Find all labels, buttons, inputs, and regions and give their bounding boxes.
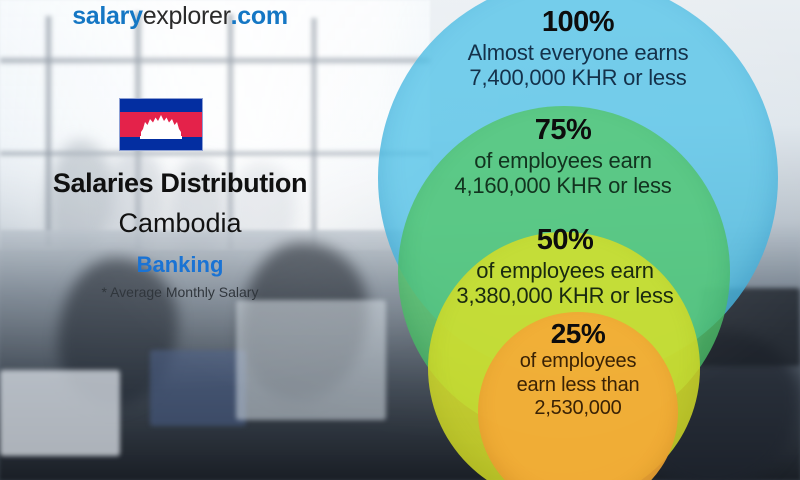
- percentile-desc-100: Almost everyone earns: [398, 40, 758, 66]
- salary-basis-note: * Average Monthly Salary: [0, 284, 360, 300]
- percentile-value-75: 75%: [398, 114, 728, 148]
- percentile-amount-25: 2,530,000: [478, 397, 678, 420]
- percentile-desc-75: of employees earn: [398, 148, 728, 174]
- percentile-desc-25-b: earn less than: [478, 374, 678, 397]
- page-title: Salaries Distribution: [0, 168, 360, 199]
- percentile-label-25: 25% of employees earn less than 2,530,00…: [478, 318, 678, 420]
- country-label: Cambodia: [0, 208, 360, 239]
- logo-part-explorer: explorer: [143, 2, 231, 30]
- percentile-desc-50: of employees earn: [420, 258, 710, 284]
- infographic-canvas: salaryexplorer.com Salaries Distribution…: [0, 0, 800, 480]
- percentile-value-50: 50%: [420, 224, 710, 258]
- percentile-value-100: 100%: [398, 6, 758, 40]
- percentile-label-75: 75% of employees earn 4,160,000 KHR or l…: [398, 114, 728, 199]
- percentile-desc-25-a: of employees: [478, 350, 678, 373]
- job-category-label: Banking: [0, 252, 360, 278]
- percentile-label-50: 50% of employees earn 3,380,000 KHR or l…: [420, 224, 710, 309]
- angkor-wat-glyph: [139, 114, 183, 140]
- percentile-amount-50: 3,380,000 KHR or less: [420, 283, 710, 309]
- logo-part-tld: .com: [231, 2, 288, 30]
- site-logo: salaryexplorer.com: [0, 2, 360, 31]
- percentile-amount-75: 4,160,000 KHR or less: [398, 173, 728, 199]
- cambodia-flag-icon: [119, 98, 203, 151]
- logo-part-salary: salary: [72, 2, 143, 30]
- percentile-amount-100: 7,400,000 KHR or less: [398, 65, 758, 91]
- percentile-label-100: 100% Almost everyone earns 7,400,000 KHR…: [398, 6, 758, 91]
- percentile-value-25: 25%: [478, 318, 678, 350]
